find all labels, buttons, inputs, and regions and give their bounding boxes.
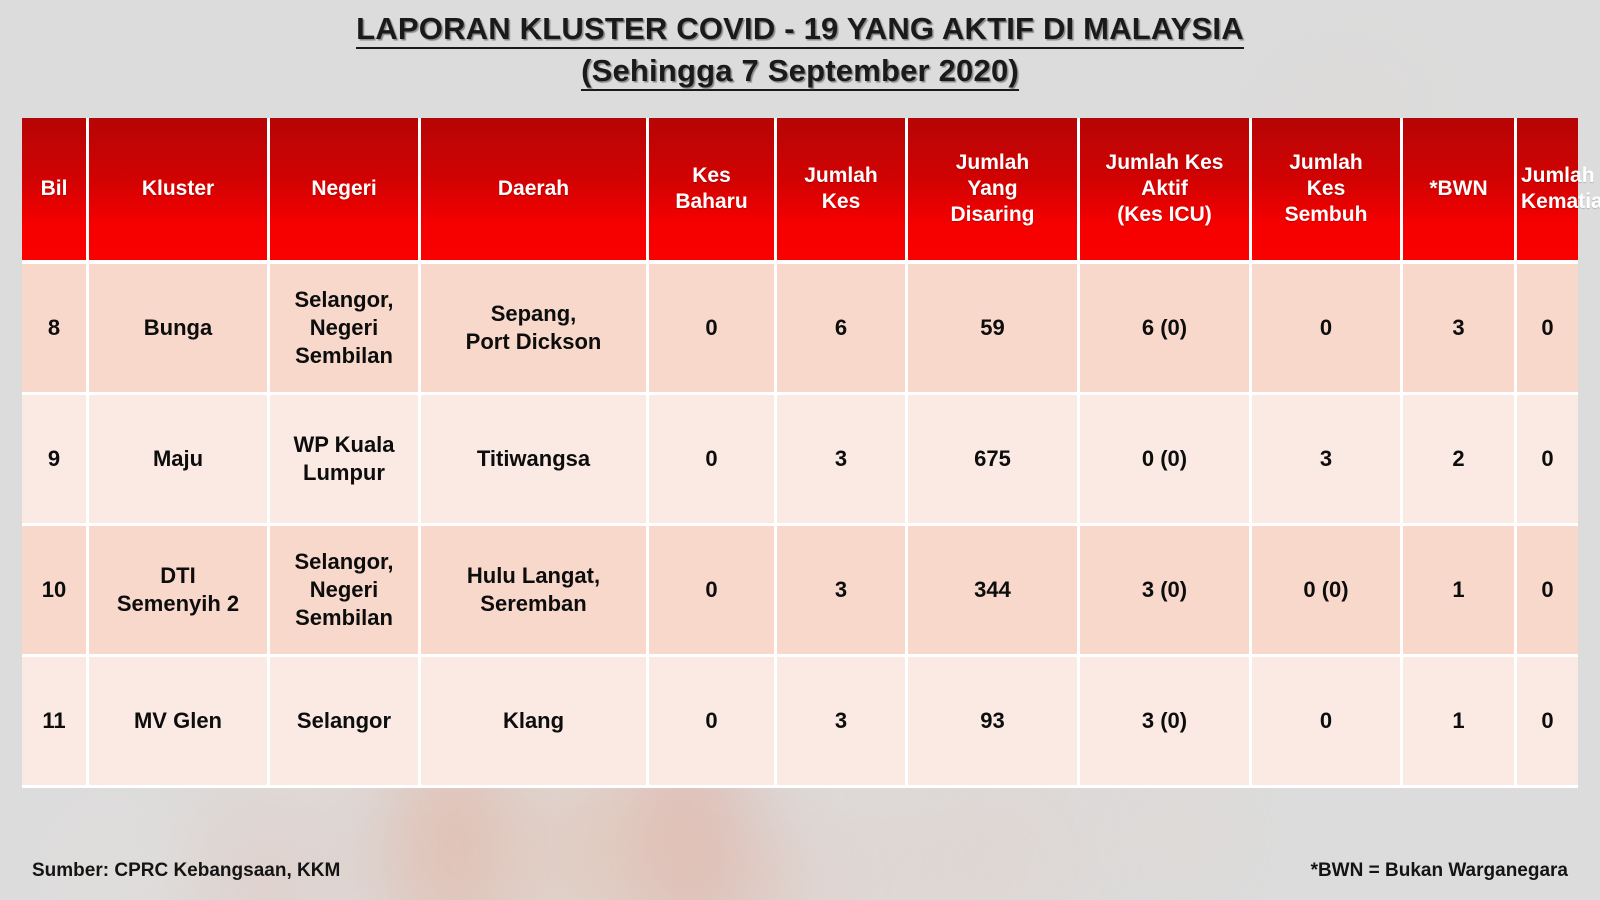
cell-kes-baharu: 0: [649, 526, 777, 657]
table-body: 8BungaSelangor,NegeriSembilanSepang,Port…: [22, 264, 1578, 788]
cell-kes-aktif: 0 (0): [1080, 395, 1252, 526]
cell-jumlah-disaring: 59: [908, 264, 1080, 395]
table-row: 8BungaSelangor,NegeriSembilanSepang,Port…: [22, 264, 1578, 395]
cell-kes-baharu: 0: [649, 395, 777, 526]
column-header-daerah: Daerah: [421, 118, 649, 264]
bwn-legend: *BWN = Bukan Warganegara: [1311, 860, 1568, 882]
column-header-kematian: JumlahKematian: [1517, 118, 1578, 264]
cell-daerah: Sepang,Port Dickson: [421, 264, 649, 395]
cell-kes-baharu: 0: [649, 657, 777, 788]
column-header-kes-sembuh: JumlahKesSembuh: [1252, 118, 1403, 264]
page-title: LAPORAN KLUSTER COVID - 19 YANG AKTIF DI…: [0, 8, 1600, 92]
cell-bwn: 1: [1403, 526, 1517, 657]
title-line-1-text: LAPORAN KLUSTER COVID - 19 YANG AKTIF DI…: [356, 11, 1244, 49]
cell-jumlah-disaring: 675: [908, 395, 1080, 526]
column-header-jumlah-kes: JumlahKes: [777, 118, 908, 264]
cell-daerah: Klang: [421, 657, 649, 788]
column-header-kluster: Kluster: [89, 118, 270, 264]
cell-daerah: Titiwangsa: [421, 395, 649, 526]
cell-negeri: Selangor: [270, 657, 421, 788]
column-header-jumlah-disaring: JumlahYangDisaring: [908, 118, 1080, 264]
table-row: 11MV GlenSelangorKlang03933 (0)010: [22, 657, 1578, 788]
cell-bwn: 3: [1403, 264, 1517, 395]
cluster-report-table: Bil Kluster Negeri Daerah KesBaharu Juml…: [22, 118, 1578, 788]
cell-kematian: 0: [1517, 264, 1578, 395]
title-line-2-text: (Sehingga 7 September 2020): [581, 53, 1019, 91]
cell-jumlah-disaring: 344: [908, 526, 1080, 657]
table-header-row: Bil Kluster Negeri Daerah KesBaharu Juml…: [22, 118, 1578, 264]
title-line-1: LAPORAN KLUSTER COVID - 19 YANG AKTIF DI…: [0, 8, 1600, 50]
cell-kes-aktif: 3 (0): [1080, 657, 1252, 788]
cell-jumlah-kes: 6: [777, 264, 908, 395]
table-header: Bil Kluster Negeri Daerah KesBaharu Juml…: [22, 118, 1578, 264]
cell-bil: 10: [22, 526, 89, 657]
cell-negeri: WP KualaLumpur: [270, 395, 421, 526]
cell-bwn: 2: [1403, 395, 1517, 526]
table-row: 9MajuWP KualaLumpurTitiwangsa036750 (0)3…: [22, 395, 1578, 526]
cell-kes-sembuh: 0 (0): [1252, 526, 1403, 657]
column-header-kes-aktif: Jumlah KesAktif(Kes ICU): [1080, 118, 1252, 264]
cell-kluster: MV Glen: [89, 657, 270, 788]
cell-bwn: 1: [1403, 657, 1517, 788]
cell-jumlah-disaring: 93: [908, 657, 1080, 788]
cell-kes-aktif: 6 (0): [1080, 264, 1252, 395]
cell-daerah: Hulu Langat,Seremban: [421, 526, 649, 657]
source-note: Sumber: CPRC Kebangsaan, KKM: [32, 860, 340, 882]
column-header-kes-baharu: KesBaharu: [649, 118, 777, 264]
cell-kes-sembuh: 3: [1252, 395, 1403, 526]
cell-jumlah-kes: 3: [777, 395, 908, 526]
cell-kematian: 0: [1517, 395, 1578, 526]
cell-kes-sembuh: 0: [1252, 264, 1403, 395]
cell-kes-baharu: 0: [649, 264, 777, 395]
cell-negeri: Selangor,NegeriSembilan: [270, 526, 421, 657]
cell-jumlah-kes: 3: [777, 526, 908, 657]
cell-kes-aktif: 3 (0): [1080, 526, 1252, 657]
cell-kematian: 0: [1517, 657, 1578, 788]
cell-bil: 8: [22, 264, 89, 395]
cell-kluster: Bunga: [89, 264, 270, 395]
cell-jumlah-kes: 3: [777, 657, 908, 788]
column-header-bwn: *BWN: [1403, 118, 1517, 264]
column-header-bil: Bil: [22, 118, 89, 264]
cell-bil: 9: [22, 395, 89, 526]
cell-kematian: 0: [1517, 526, 1578, 657]
title-line-2: (Sehingga 7 September 2020): [0, 50, 1600, 92]
column-header-negeri: Negeri: [270, 118, 421, 264]
cell-kes-sembuh: 0: [1252, 657, 1403, 788]
cell-negeri: Selangor,NegeriSembilan: [270, 264, 421, 395]
cell-bil: 11: [22, 657, 89, 788]
table-row: 10DTISemenyih 2Selangor,NegeriSembilanHu…: [22, 526, 1578, 657]
cell-kluster: DTISemenyih 2: [89, 526, 270, 657]
cell-kluster: Maju: [89, 395, 270, 526]
